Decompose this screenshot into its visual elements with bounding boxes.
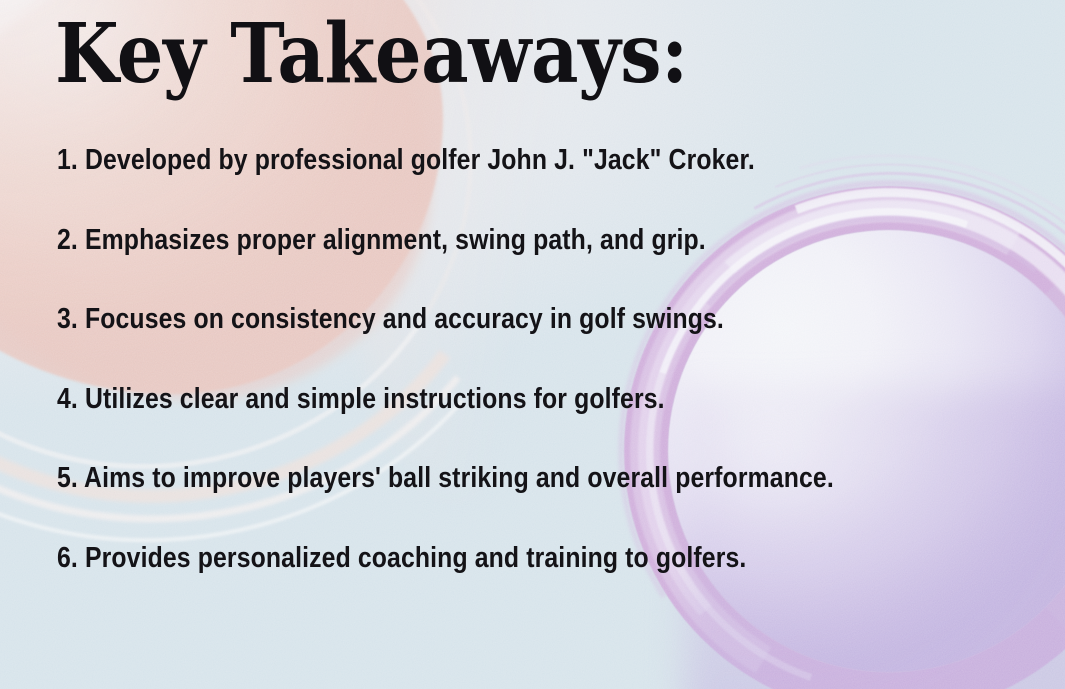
takeaways-list: 1. Developed by professional golfer John… [57, 146, 1025, 573]
list-item: 6. Provides personalized coaching and tr… [57, 544, 885, 573]
list-item: 3. Focuses on consistency and accuracy i… [57, 305, 885, 334]
page-title: Key Takeaways: [55, 13, 688, 95]
slide-content: Key Takeaways: 1. Developed by professio… [0, 0, 1065, 689]
key-takeaways-slide: Key Takeaways: 1. Developed by professio… [0, 0, 1065, 689]
list-item: 1. Developed by professional golfer John… [57, 146, 885, 175]
list-item: 2. Emphasizes proper alignment, swing pa… [57, 226, 885, 255]
list-item: 5. Aims to improve players' ball strikin… [57, 464, 885, 493]
list-item: 4. Utilizes clear and simple instruction… [57, 385, 885, 414]
